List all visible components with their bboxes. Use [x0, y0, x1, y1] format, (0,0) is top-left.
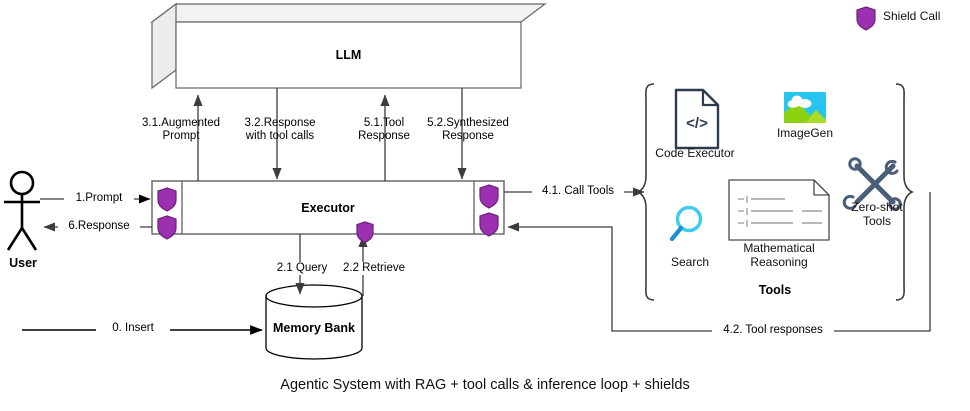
edge-label-response: 6.Response	[58, 220, 140, 233]
executor-label: Executor	[182, 201, 474, 215]
shield-icon	[158, 216, 176, 239]
tool-label-zero-shot-tools: Zero-shot Tools	[839, 200, 915, 228]
edge-label-synthesized-response: 5.2.Synthesized Response	[420, 117, 516, 143]
legend-label: Shield Call	[883, 9, 969, 23]
edge-label-query: 2.1 Query	[266, 262, 338, 275]
user-label: User	[0, 256, 46, 270]
magnifier-icon	[672, 208, 701, 240]
code-document-icon: </>	[676, 90, 718, 148]
edge-label-augmented-prompt: 3.1.Augmented Prompt	[138, 117, 224, 143]
edge-label-tool-response: 5.1.Tool Response	[345, 117, 423, 143]
edge-label-response-tool-calls: 3.2.Response with tool calls	[232, 117, 328, 143]
tools-group-label: Tools	[715, 283, 835, 297]
llm-box	[152, 4, 545, 88]
image-icon	[784, 92, 826, 123]
llm-label: LLM	[176, 48, 521, 62]
tool-label-code-executor: Code Executor	[647, 146, 743, 160]
math-document-icon	[729, 180, 829, 240]
edge-label-retrieve: 2.2 Retrieve	[334, 262, 414, 275]
user-stick-figure	[4, 172, 40, 250]
edge-label-insert: 0. Insert	[96, 322, 170, 335]
shield-icon	[357, 222, 373, 243]
svg-text:</>: </>	[686, 115, 708, 132]
tool-label-imagegen: ImageGen	[763, 126, 847, 140]
edge-label-prompt: 1.Prompt	[64, 192, 134, 205]
memory-bank-label: Memory Bank	[266, 321, 362, 335]
legend-shield-icon	[857, 7, 875, 30]
edge-label-tool-responses: 4.2. Tool responses	[712, 324, 834, 337]
tool-label-mathematical-reasoning: Mathematical Reasoning	[722, 241, 836, 269]
diagram-caption: Agentic System with RAG + tool calls & i…	[0, 377, 970, 393]
edge-label-call-tools: 4.1. Call Tools	[532, 185, 624, 198]
tool-label-search: Search	[655, 255, 725, 269]
